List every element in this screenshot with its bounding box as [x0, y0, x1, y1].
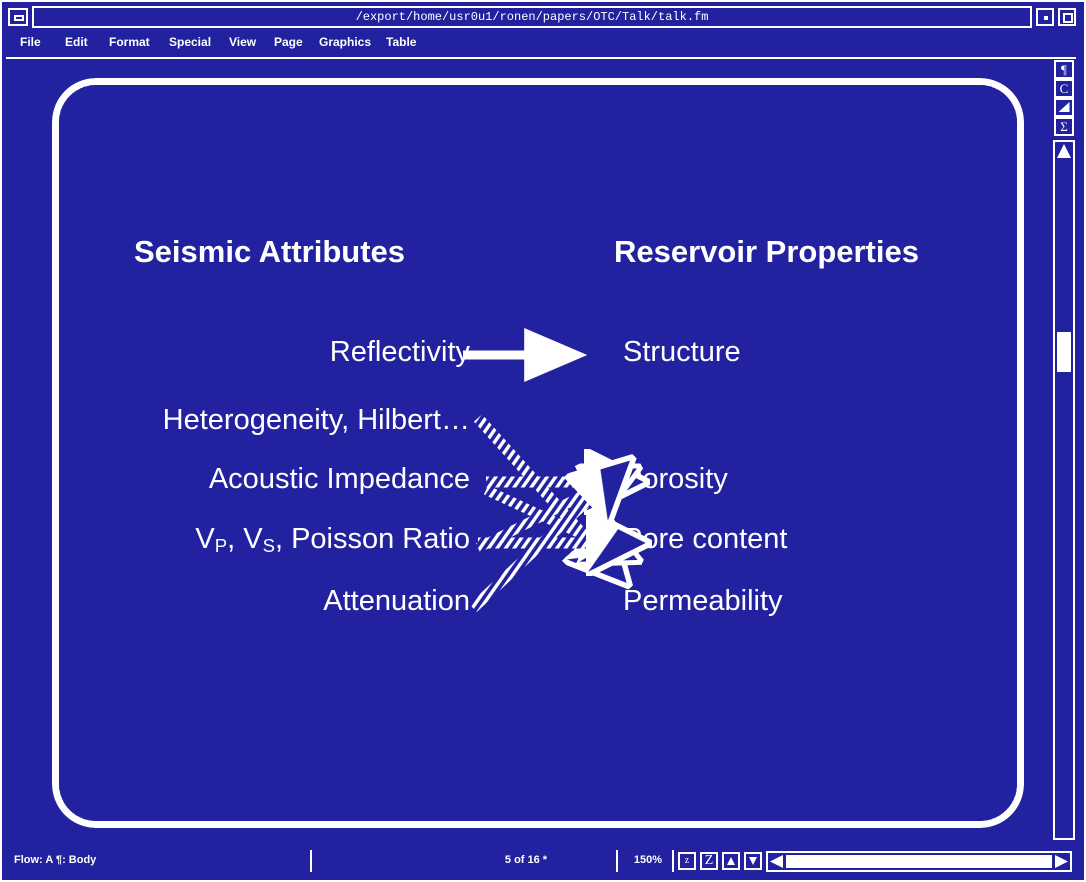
status-bar: Flow: A ¶: Body 5 of 16 * 150% z Z	[6, 850, 1076, 874]
poisson-ratio-text: , Poisson Ratio	[275, 523, 470, 555]
status-divider	[672, 850, 674, 872]
previous-page-button[interactable]	[722, 852, 740, 870]
vertical-scrollbar[interactable]	[1053, 140, 1075, 840]
title-bar-band: /export/home/usr0u1/ronen/papers/OTC/Tal…	[32, 6, 1032, 28]
arrow-velocities-to-porosity	[478, 492, 590, 548]
vp-symbol: V	[195, 523, 214, 555]
heading-seismic-attributes: Seismic Attributes	[134, 234, 405, 270]
menu-item-view[interactable]: View	[229, 35, 256, 49]
application-window: /export/home/usr0u1/ronen/papers/OTC/Tal…	[0, 0, 1086, 882]
scroll-right-arrow-icon[interactable]	[1055, 855, 1068, 868]
paragraph-icon[interactable]: ¶	[1054, 60, 1074, 79]
status-divider	[616, 850, 618, 872]
status-flow-label: Flow: A ¶: Body	[14, 854, 96, 866]
vs-subscript: S	[263, 535, 275, 556]
window-title: /export/home/usr0u1/ronen/papers/OTC/Tal…	[34, 10, 1030, 24]
vs-symbol: , V	[227, 523, 262, 555]
next-page-button[interactable]	[744, 852, 762, 870]
menu-bar-separator	[6, 57, 1076, 59]
character-icon[interactable]: C	[1054, 79, 1074, 98]
menu-item-special[interactable]: Special	[169, 35, 211, 49]
menu-item-page[interactable]: Page	[274, 35, 303, 49]
scroll-left-arrow-icon[interactable]	[770, 855, 783, 868]
scroll-up-arrow-icon[interactable]	[1057, 144, 1071, 158]
arrow-heterogeneity-to-pore-content	[478, 418, 588, 540]
maximize-icon	[1063, 13, 1073, 23]
vp-subscript: P	[215, 535, 227, 556]
property-permeability: Permeability	[623, 585, 783, 618]
attribute-acoustic-impedance: Acoustic Impedance	[209, 463, 470, 496]
arrow-attenuation-to-porosity	[473, 500, 588, 608]
horizontal-scrollbar[interactable]	[766, 851, 1072, 872]
arrow-down-icon	[749, 857, 757, 865]
document-canvas[interactable]: Seismic Attributes Reservoir Properties …	[8, 60, 1050, 845]
menu-item-graphics[interactable]: Graphics	[319, 35, 371, 49]
heading-reservoir-properties: Reservoir Properties	[614, 234, 919, 270]
menu-item-table[interactable]: Table	[386, 35, 416, 49]
menu-item-file[interactable]: File	[20, 35, 41, 49]
status-divider	[310, 850, 312, 872]
zoom-out-button[interactable]: z	[678, 852, 696, 870]
attribute-reflectivity: Reflectivity	[330, 336, 470, 369]
window-menu-icon	[14, 15, 24, 21]
maximize-button[interactable]	[1058, 8, 1076, 26]
triangle-glyph	[1059, 102, 1070, 112]
attribute-attenuation: Attenuation	[323, 585, 470, 618]
arrow-connections	[8, 60, 1050, 845]
menu-bar: File Edit Format Special View Page Graph…	[6, 32, 1076, 56]
vertical-scrollbar-thumb[interactable]	[1057, 332, 1071, 372]
zoom-in-button[interactable]: Z	[700, 852, 718, 870]
property-porosity: Porosity	[623, 463, 728, 496]
equation-sigma-icon[interactable]: Σ	[1054, 117, 1074, 136]
attribute-velocities-poisson-ratio: VP, VS, Poisson Ratio	[195, 523, 470, 557]
property-structure: Structure	[623, 336, 741, 369]
property-pore-content: Pore content	[623, 523, 787, 556]
arrow-acoustic-impedance-to-pore-content	[486, 490, 590, 538]
slide-content: Seismic Attributes Reservoir Properties …	[8, 60, 1050, 845]
page-indicator: 5 of 16 *	[436, 854, 616, 866]
window-menu-button[interactable]	[8, 8, 28, 26]
menu-item-format[interactable]: Format	[109, 35, 150, 49]
title-bar: /export/home/usr0u1/ronen/papers/OTC/Tal…	[6, 6, 1076, 28]
horizontal-scrollbar-thumb[interactable]	[786, 855, 1052, 868]
menu-item-edit[interactable]: Edit	[65, 35, 88, 49]
minimize-icon	[1044, 16, 1048, 20]
attribute-heterogeneity: Heterogeneity, Hilbert…	[163, 404, 470, 437]
zoom-level-label: 150%	[626, 854, 670, 866]
minimize-button[interactable]	[1036, 8, 1054, 26]
graphics-triangle-icon[interactable]	[1054, 98, 1074, 117]
arrow-up-icon	[727, 857, 735, 865]
